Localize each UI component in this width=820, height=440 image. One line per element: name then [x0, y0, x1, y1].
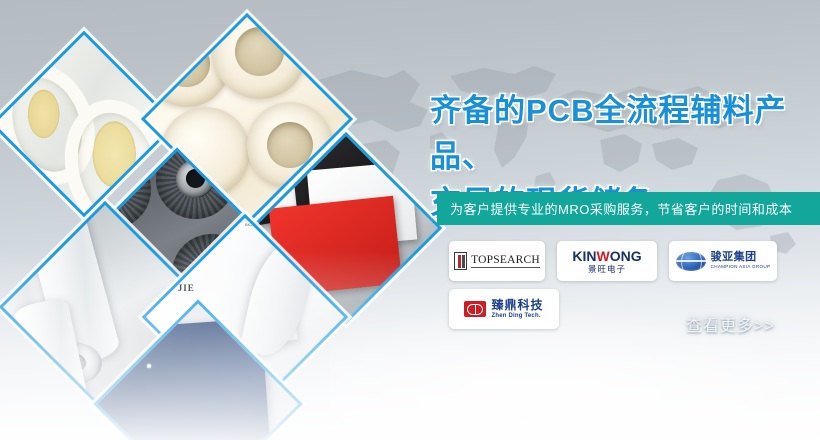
- kinwong-wordmark-right: ONG: [610, 248, 642, 264]
- topsearch-wordmark: TOPSEARCH: [471, 254, 540, 268]
- kinwong-wordmark-left: KIN: [572, 248, 596, 264]
- topsearch-mark-icon: [454, 252, 467, 270]
- view-more-link[interactable]: 查看更多>>: [686, 312, 775, 336]
- zhen-ding-mark-icon: [464, 301, 486, 317]
- client-logo-kinwong[interactable]: KINWONG 景旺电子: [557, 241, 657, 281]
- zhen-ding-wordmark-cn: 臻鼎科技: [491, 299, 543, 311]
- kinwong-wordmark: KINWONG: [572, 249, 641, 263]
- subtitle-text: 为客户提供专业的MRO采购服务，节省客户的时间和成本: [437, 199, 792, 218]
- subtitle-bar: 为客户提供专业的MRO采购服务，节省客户的时间和成本: [437, 192, 820, 225]
- kinwong-wordmark-accent: W: [597, 248, 610, 264]
- client-logo-champion-asia[interactable]: 骏亚集团 CHAMPION ASIA GROUP: [669, 241, 777, 281]
- champion-globe-icon: [676, 252, 706, 271]
- client-logo-zhen-ding[interactable]: 臻鼎科技 Zhen Ding Tech.: [449, 289, 559, 329]
- champion-wordmark-en: CHAMPION ASIA GROUP: [711, 265, 771, 270]
- headline-line-1: 齐备的PCB全流程辅料产品、: [430, 93, 786, 174]
- client-logo-topsearch[interactable]: TOPSEARCH: [449, 241, 545, 281]
- promo-banner: JIE AF1 BK2 齐备的PCB全流程辅料产品、 充足的现货储备 为客户提供…: [0, 0, 820, 440]
- champion-wordmark-cn: 骏亚集团: [711, 252, 771, 263]
- kinwong-subtext: 景旺电子: [572, 265, 641, 274]
- zhen-ding-wordmark-en: Zhen Ding Tech.: [491, 313, 543, 319]
- tile-caption-jie: JIE: [178, 283, 195, 293]
- client-logo-row-1: TOPSEARCH KINWONG 景旺电子 骏亚集团 CHAMPION ASI…: [449, 241, 789, 281]
